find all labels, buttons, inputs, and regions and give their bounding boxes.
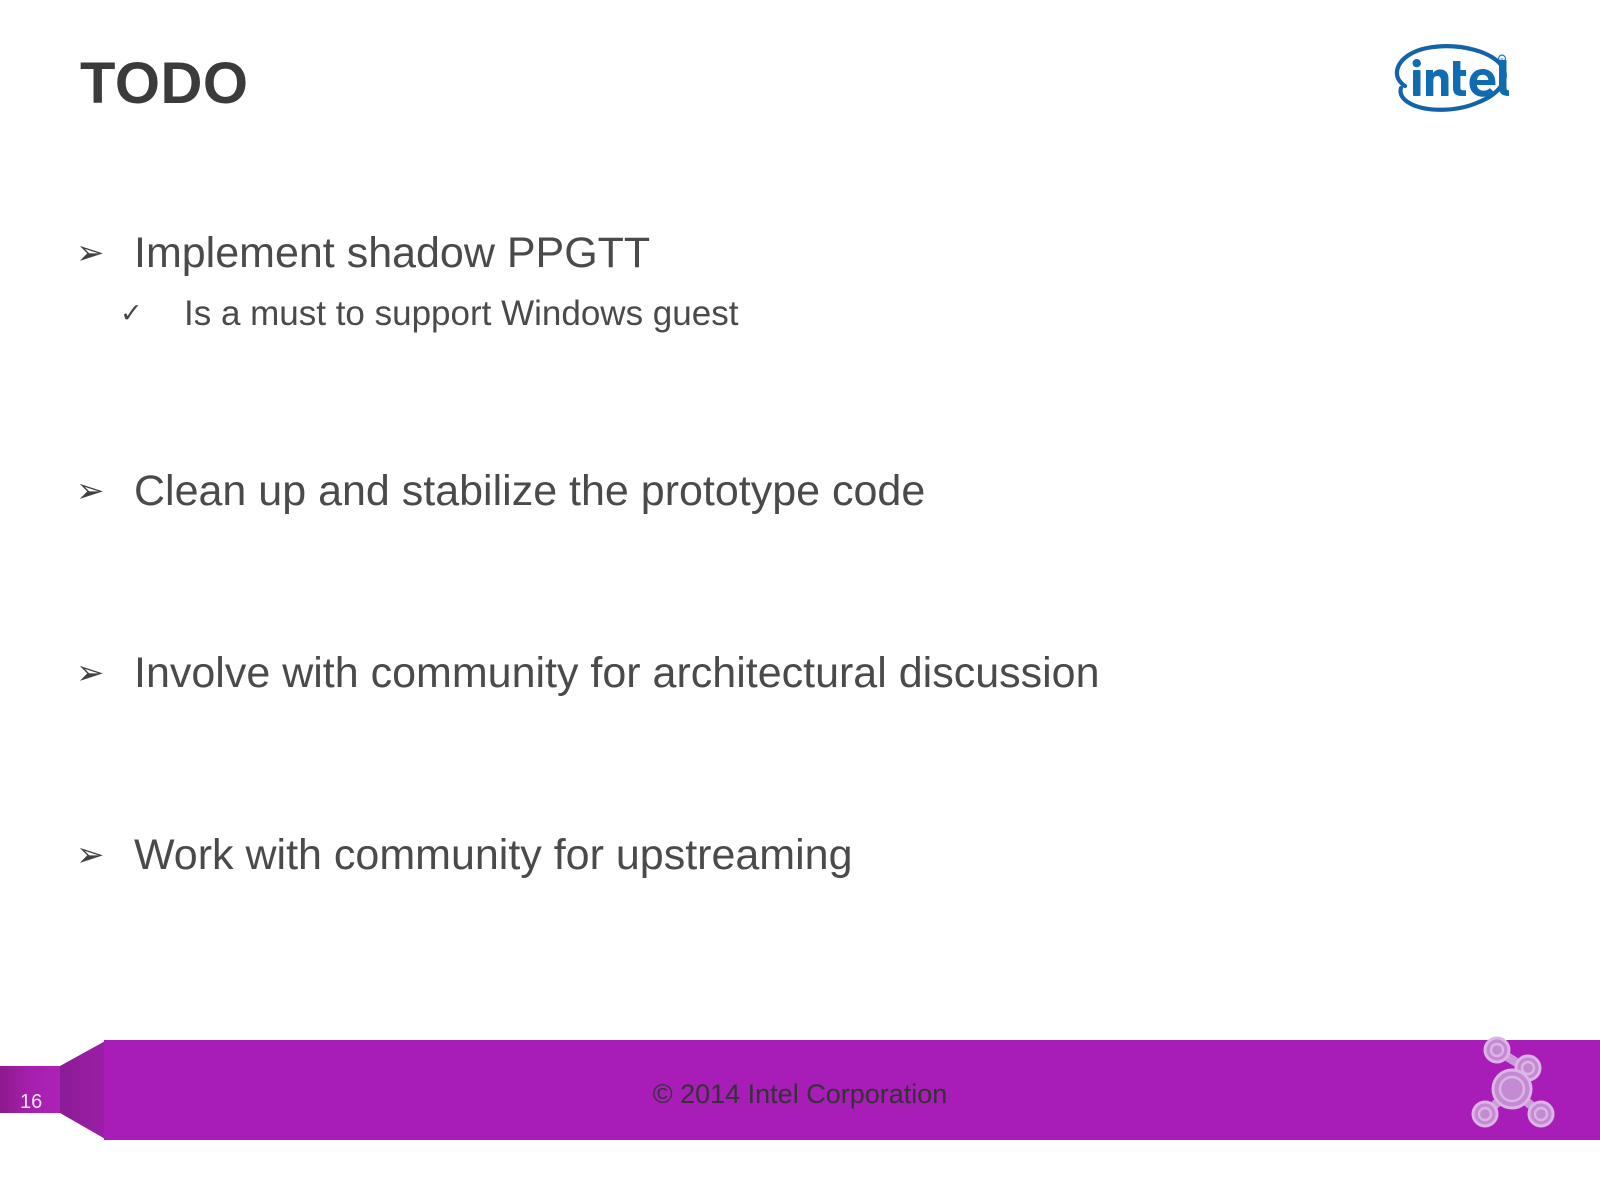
bullet-item-1: ➢ Implement shadow PPGTT	[72, 225, 1492, 281]
bullet-item-4: ➢ Work with community for upstreaming	[72, 827, 1492, 883]
copyright-notice: © 2014 Intel Corporation	[0, 1077, 1600, 1111]
spacer	[72, 337, 1492, 463]
intel-logo: R	[1383, 38, 1511, 124]
bullet-item-4-label: Work with community for upstreaming	[134, 827, 853, 883]
sub-bullet-item-1-1-label: Is a must to support Windows guest	[184, 291, 738, 337]
slide: TODO R	[0, 0, 1600, 1200]
bullet-item-2-label: Clean up and stabilize the prototype cod…	[134, 463, 925, 519]
arrow-bullet-icon: ➢	[72, 225, 134, 281]
bullet-item-3-label: Involve with community for architectural…	[134, 645, 1099, 701]
check-bullet-icon: ✓	[72, 291, 184, 337]
molecule-network-icon	[1462, 1033, 1566, 1131]
bullet-item-3: ➢ Involve with community for architectur…	[72, 645, 1492, 701]
list-item: ➢ Involve with community for architectur…	[72, 645, 1492, 701]
arrow-bullet-icon: ➢	[72, 645, 134, 701]
bullet-item-2: ➢ Clean up and stabilize the prototype c…	[72, 463, 1492, 519]
arrow-bullet-icon: ➢	[72, 827, 134, 883]
list-item: ➢ Clean up and stabilize the prototype c…	[72, 463, 1492, 519]
spacer	[72, 701, 1492, 827]
bullet-item-1-label: Implement shadow PPGTT	[134, 225, 650, 281]
arrow-bullet-icon: ➢	[72, 463, 134, 519]
spacer	[72, 519, 1492, 645]
list-item: ➢ Work with community for upstreaming	[72, 827, 1492, 883]
sub-bullet-item-1-1: ✓ Is a must to support Windows guest	[72, 291, 1492, 337]
bullet-list: ➢ Implement shadow PPGTT ✓ Is a must to …	[72, 225, 1492, 883]
page-title: TODO	[80, 52, 249, 116]
list-item: ➢ Implement shadow PPGTT ✓ Is a must to …	[72, 225, 1492, 337]
registered-mark: R	[1499, 55, 1506, 62]
